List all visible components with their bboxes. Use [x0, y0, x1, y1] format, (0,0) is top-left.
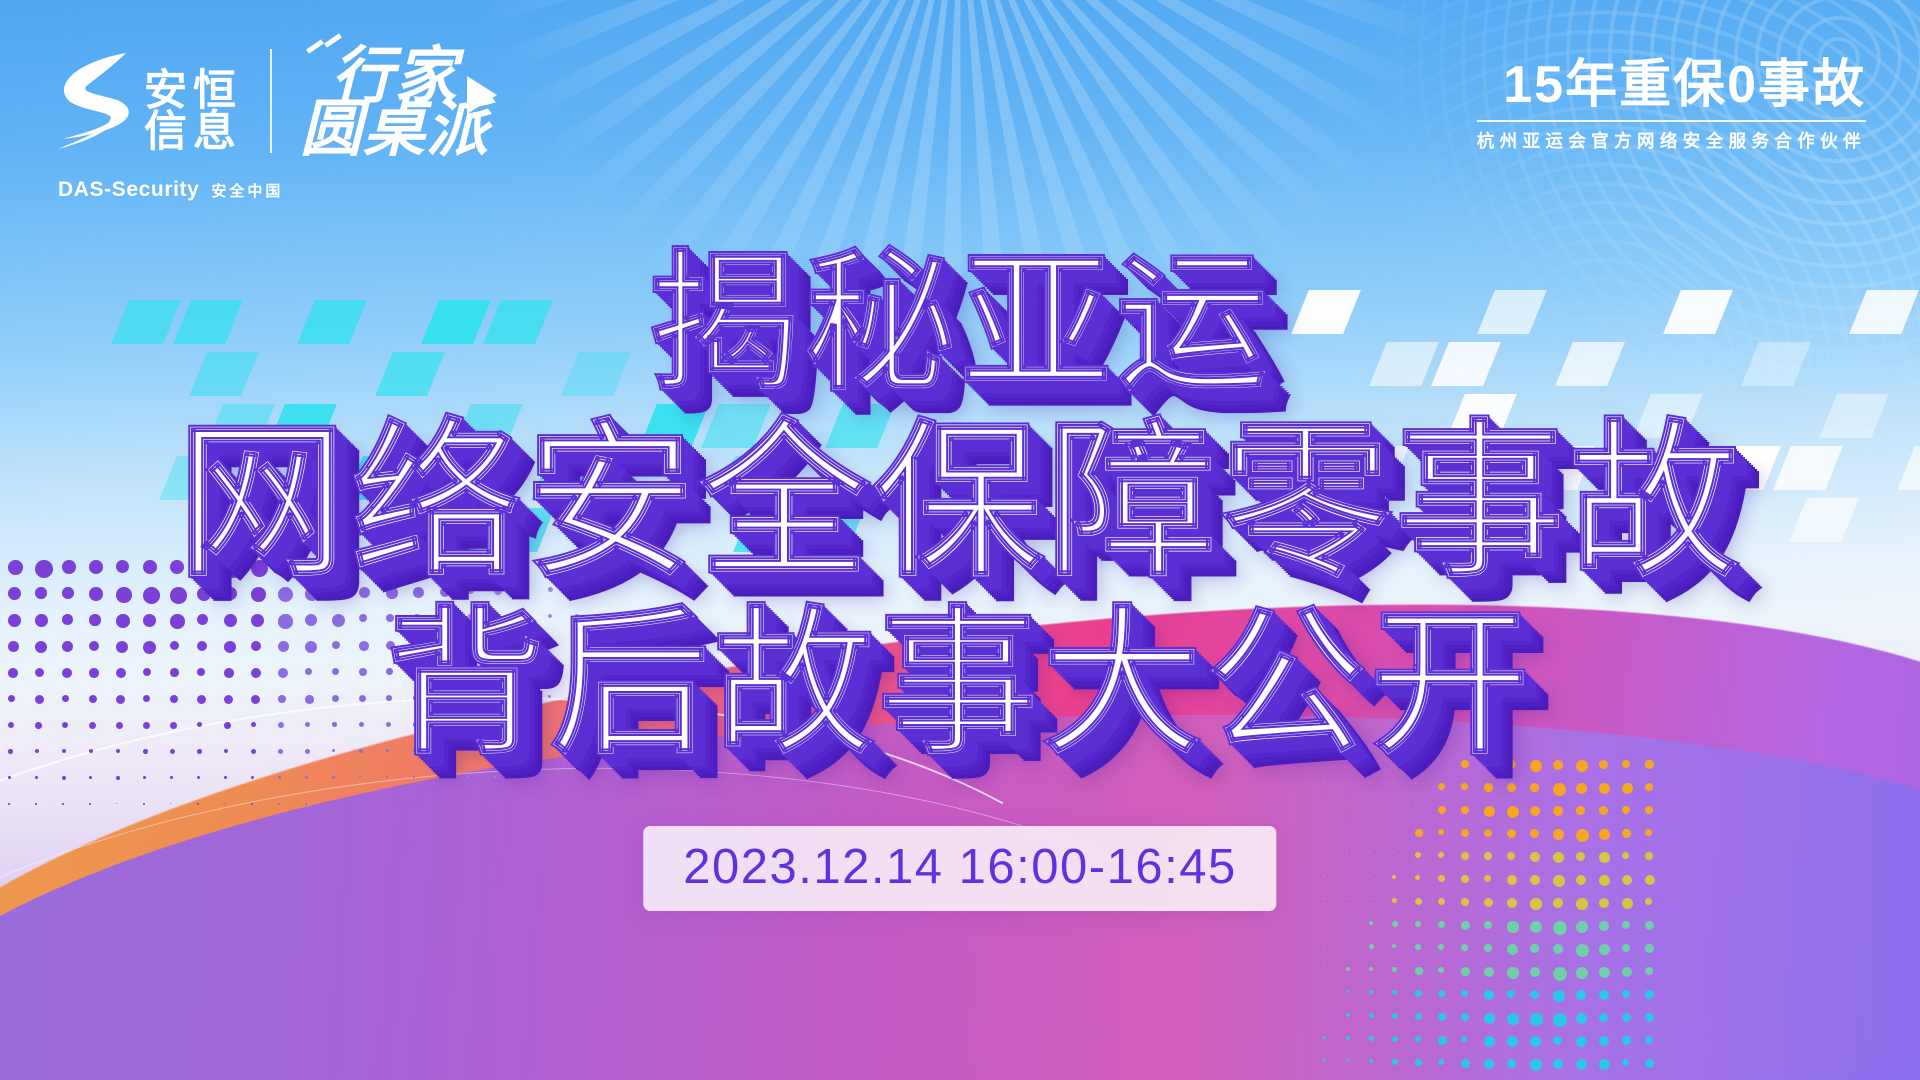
vertical-divider-icon: [270, 49, 272, 153]
schedule-badge: 2023.12.14 16:00-16:45: [643, 826, 1276, 911]
das-security-logo[interactable]: 安恒 信息: [56, 49, 242, 153]
brand-bar: 安恒 信息 行家 圆桌派: [56, 46, 489, 157]
award-rule: [1477, 120, 1866, 122]
brand-zh-line1: 安恒: [144, 71, 242, 112]
award-subline: 杭州亚运会官方网络安全服务合作伙伴: [1477, 128, 1866, 153]
quote-tick-icon: [306, 39, 324, 53]
brand-zh-line2: 信息: [144, 112, 242, 153]
brand-en-name: DAS-Security: [58, 178, 199, 202]
headline-line-2: 网络安全保障零事故: [0, 418, 1920, 588]
das-swoosh-icon: [56, 49, 130, 153]
play-triangle-icon: [467, 76, 497, 114]
award-headline: 15年重保0事故: [1477, 58, 1866, 113]
show-title-line2: 圆桌派: [300, 103, 489, 156]
headline-line-3: 背后故事大公开: [0, 604, 1920, 764]
schedule-datetime: 2023.12.14 16:00-16:45: [683, 840, 1236, 894]
promo-banner: 安恒 信息 行家 圆桌派 DAS-Security 安全中国 15年重保0事故 …: [0, 0, 1920, 1080]
das-security-wordmark: DAS-Security 安全中国: [58, 178, 283, 202]
page-title: 揭秘亚运 网络安全保障零事故 背后故事大公开: [0, 248, 1920, 764]
show-logo[interactable]: 行家 圆桌派: [300, 46, 489, 157]
award-badge: 15年重保0事故 杭州亚运会官方网络安全服务合作伙伴: [1477, 58, 1866, 153]
headline-line-1: 揭秘亚运: [0, 248, 1920, 400]
brand-en-zh: 安全中国: [211, 180, 283, 201]
